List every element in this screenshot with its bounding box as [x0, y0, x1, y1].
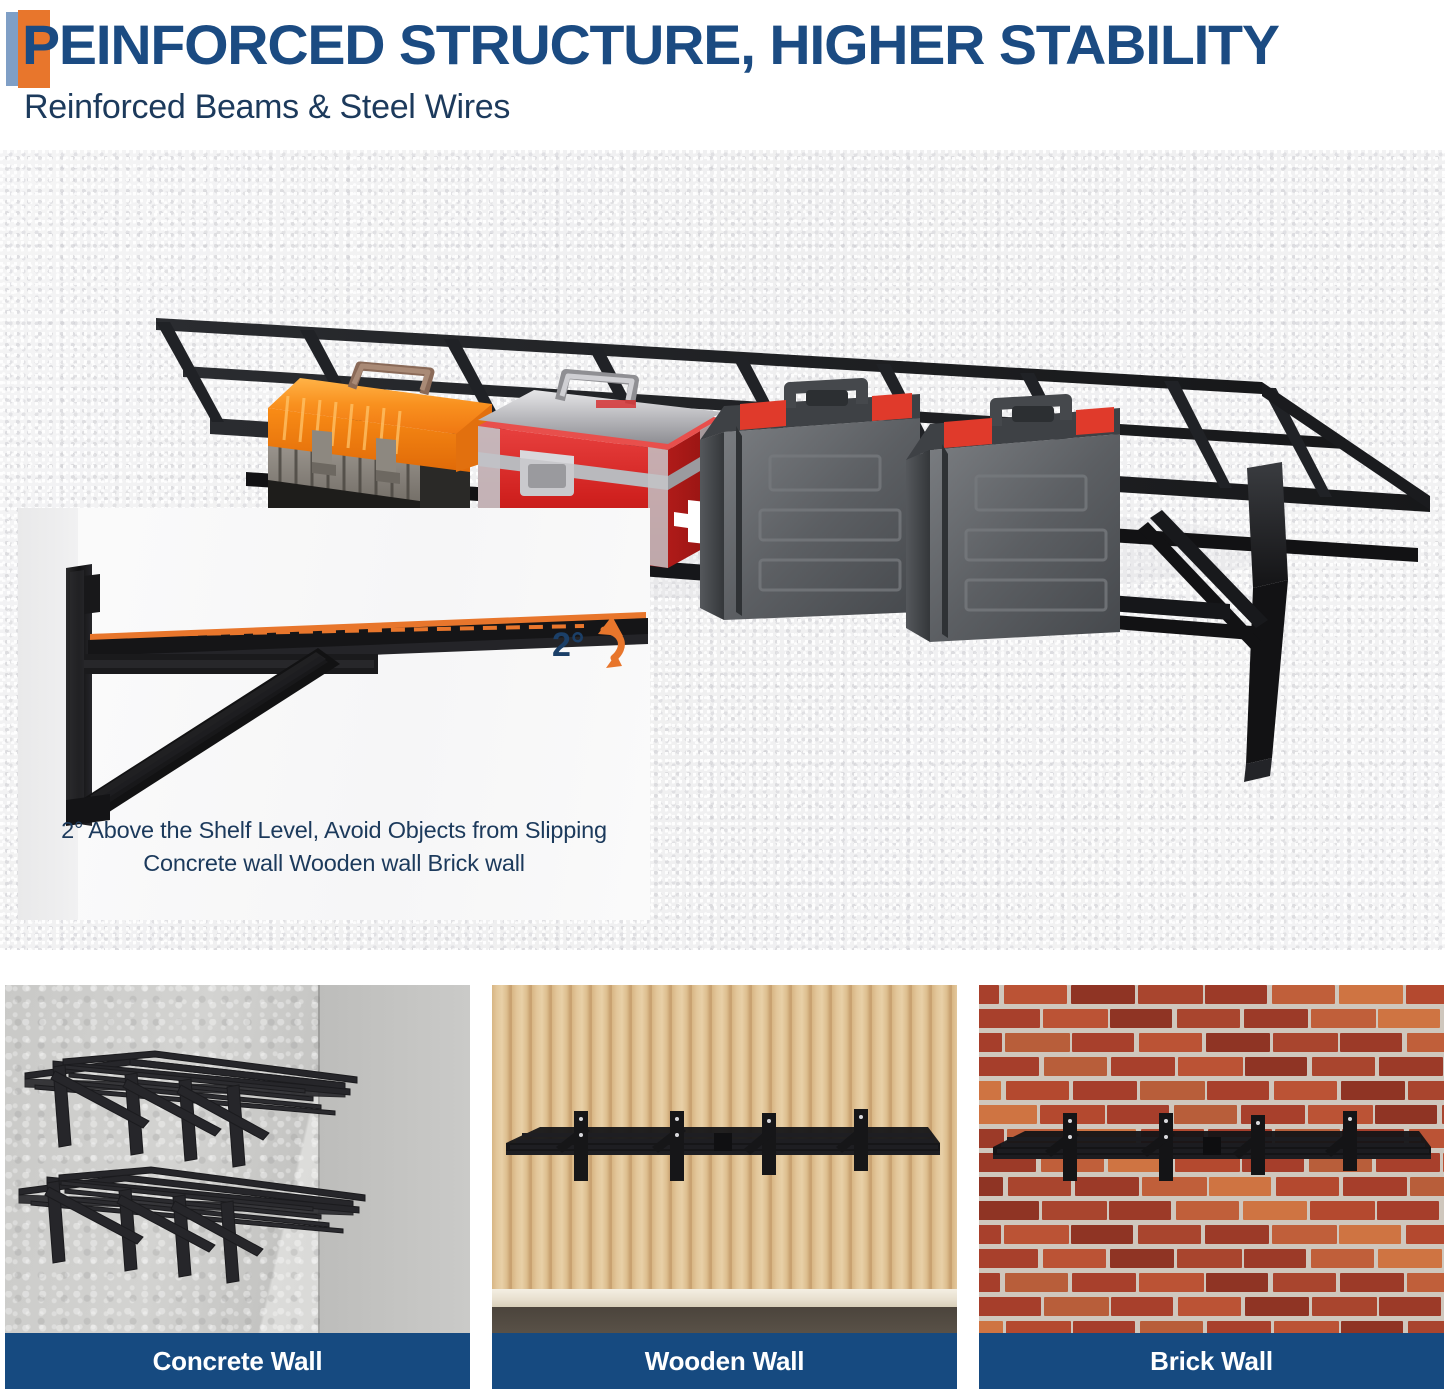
concrete-wall-photo [5, 985, 470, 1337]
gray-tool-case-1 [700, 384, 920, 620]
panel-label-wooden: Wooden Wall [492, 1333, 957, 1389]
panel-concrete-wall: Concrete Wall [5, 985, 470, 1389]
concrete-shelves [5, 985, 470, 1337]
angle-label: 2° [552, 626, 585, 664]
panel-label-concrete: Concrete Wall [5, 1333, 470, 1389]
panel-brick-wall: Brick Wall [979, 985, 1444, 1389]
page-header: PEINFORCED STRUCTURE, HIGHER STABILITY R… [0, 0, 1445, 150]
wall-type-panels: Concrete Wall [0, 985, 1445, 1389]
panel-label-brick: Brick Wall [979, 1333, 1444, 1389]
page-title: PEINFORCED STRUCTURE, HIGHER STABILITY [22, 6, 1445, 84]
inset-caption-line2: Concrete wall Wooden wall Brick wall [18, 847, 650, 880]
brick-wall-photo [979, 985, 1444, 1337]
wooden-wall-shelf [492, 985, 957, 1337]
page-subtitle: Reinforced Beams & Steel Wires [24, 88, 510, 127]
gray-tool-case-2 [906, 400, 1120, 642]
panel-wooden-wall: Wooden Wall [492, 985, 957, 1389]
brick-wall-shelf [979, 985, 1444, 1337]
inset-caption: 2° Above the Shelf Level, Avoid Objects … [18, 814, 650, 880]
inset-caption-line1: 2° Above the Shelf Level, Avoid Objects … [61, 817, 607, 843]
wooden-wall-photo [492, 985, 957, 1337]
angle-detail-inset: 2° 2° Above the Shelf Level, Avoid Objec… [18, 508, 650, 920]
